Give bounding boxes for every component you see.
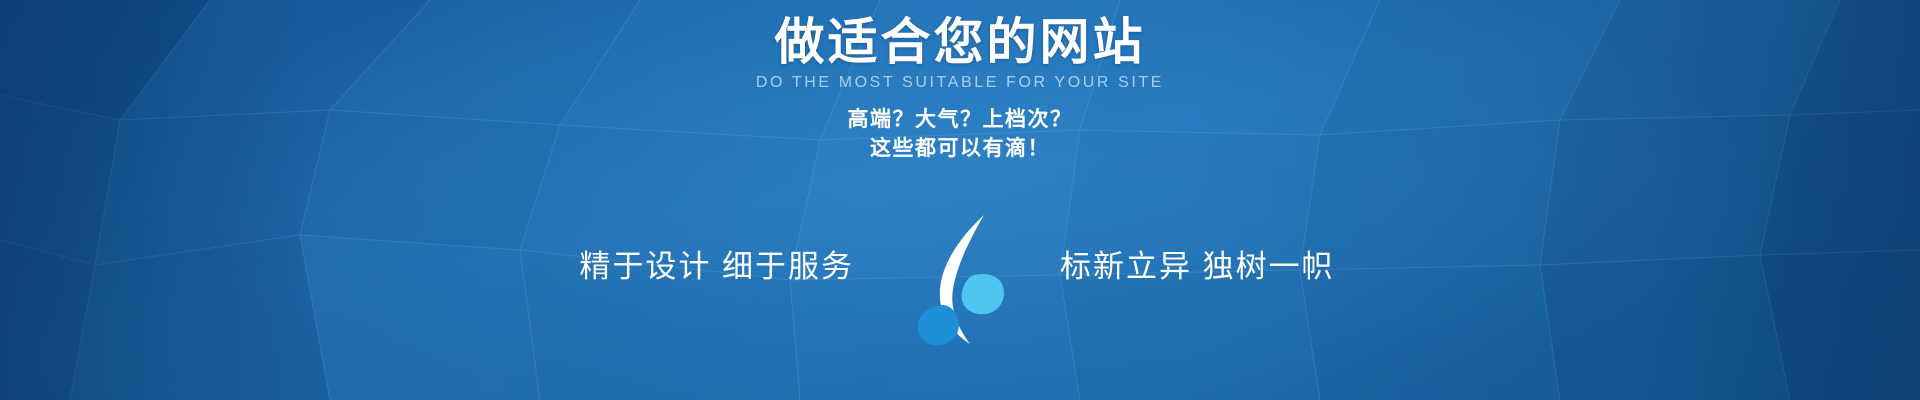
banner-content: 做适合您的网站 DO THE MOST SUITABLE FOR YOUR SI… bbox=[0, 0, 1920, 400]
slogan-block: 高端？大气？上档次？ 这些都可以有滴！ bbox=[848, 106, 1073, 163]
leaf-swoosh-logo-icon bbox=[900, 213, 1020, 348]
tagline-right: 标新立异 独树一帜 bbox=[1020, 251, 1350, 282]
slogan-line-1: 高端？大气？上档次？ bbox=[848, 108, 1073, 131]
tagline-row: 精于设计 细于服务 标新立异 独树一帜 bbox=[0, 185, 1920, 348]
page-title: 做适合您的网站 bbox=[775, 14, 1146, 71]
hero-banner: 做适合您的网站 DO THE MOST SUITABLE FOR YOUR SI… bbox=[0, 0, 1920, 400]
page-subtitle-english: DO THE MOST SUITABLE FOR YOUR SITE bbox=[756, 73, 1164, 92]
slogan-line-2: 这些都可以有滴！ bbox=[848, 135, 1073, 164]
tagline-left: 精于设计 细于服务 bbox=[570, 251, 900, 282]
brand-logo bbox=[900, 213, 1020, 348]
